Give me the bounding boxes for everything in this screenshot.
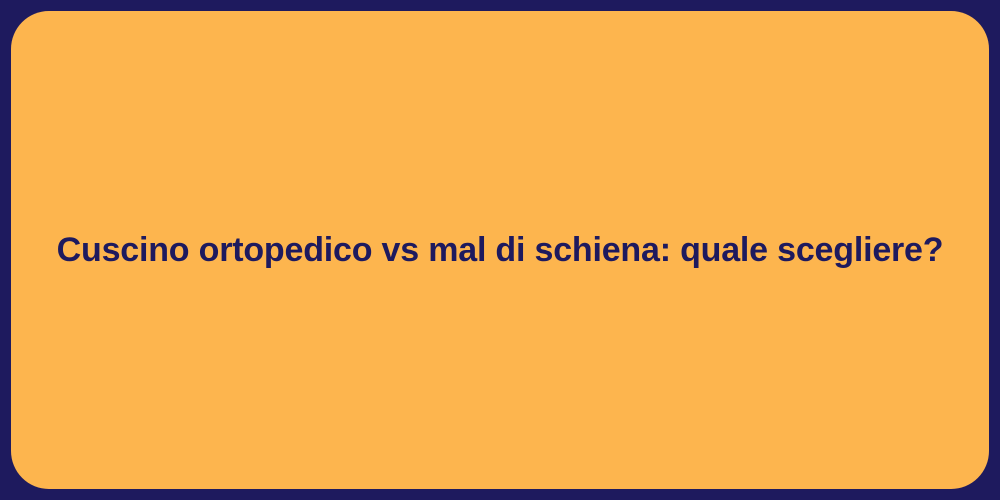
content-card: Cuscino ortopedico vs mal di schiena: qu… [11, 11, 989, 489]
headline-text: Cuscino ortopedico vs mal di schiena: qu… [11, 229, 989, 272]
slide-canvas: Cuscino ortopedico vs mal di schiena: qu… [0, 0, 1000, 500]
